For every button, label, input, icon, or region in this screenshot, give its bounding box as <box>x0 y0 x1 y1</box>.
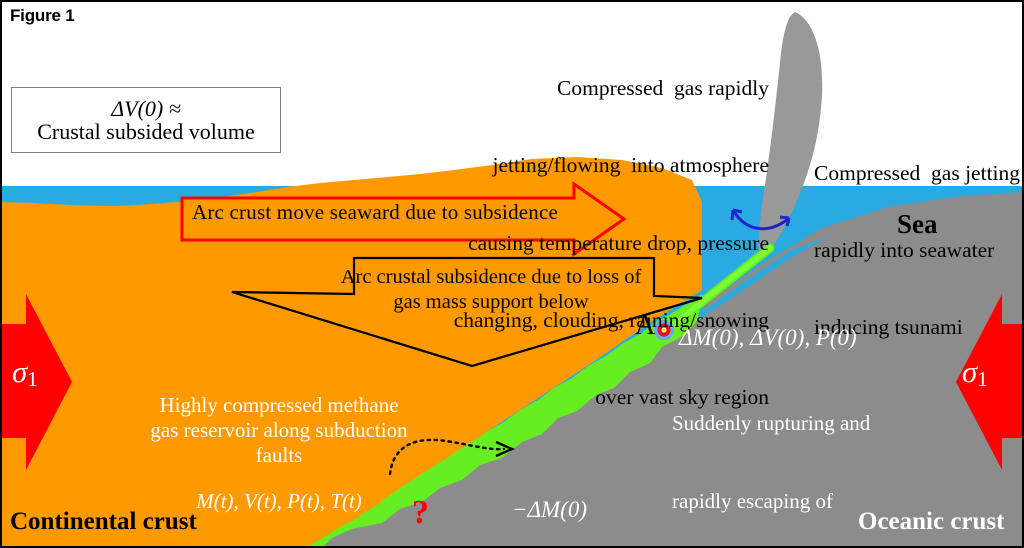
tsunami-callout-line: rapidly into seawater <box>814 238 1020 264</box>
continental-crust-label: Continental crust <box>10 508 197 536</box>
figure-canvas: Figure 1 ΔV(0) ≈ Crustal subsided volume… <box>0 0 1024 548</box>
tsunami-callout-line: Compressed gas jetting <box>814 161 1020 187</box>
figure-label: Figure 1 <box>10 6 75 26</box>
atmosphere-callout-line: Compressed gas rapidly <box>454 76 769 102</box>
question-mark-annotation: ? <box>412 494 429 532</box>
rupture-callout-line: Suddenly rupturing and <box>672 411 873 437</box>
volume-callout-box: ΔV(0) ≈ Crustal subsided volume <box>11 87 281 153</box>
stress-arrow-right-label: σ1 <box>962 354 988 392</box>
volume-callout-line1: ΔV(0) ≈ <box>111 97 181 120</box>
atmosphere-callout-line: jetting/flowing into atmosphere <box>454 153 769 179</box>
rupture-variables: ΔM(0), ΔV(0), P(0) <box>679 325 857 351</box>
sea-region-label: Sea <box>897 209 938 240</box>
point-a-label: A <box>635 310 655 342</box>
oceanic-crust-label: Oceanic crust <box>858 508 1004 536</box>
volume-callout-line2: Crustal subsided volume <box>37 120 255 143</box>
stress-arrow-left-label: σ1 <box>12 354 38 392</box>
atmosphere-callout-line: causing temperature drop, pressure <box>454 231 769 257</box>
subsidence-callout-label: Arc crustal subsidence due to loss of ga… <box>332 265 650 315</box>
rupture-callout-line: rapidly escaping of <box>672 489 873 515</box>
rupture-callout: Suddenly rupturing and rapidly escaping … <box>672 359 873 548</box>
seaward-arrow-label: Arc crust move seaward due to subsidence <box>192 200 558 225</box>
delta-value-item: −ΔM(0) <box>512 493 587 527</box>
delta-values-list: −ΔM(0) − ΔV(0) − ΔP(0) <box>512 425 587 548</box>
reservoir-callout: Highly compressed methane gas reservoir … <box>145 393 413 469</box>
